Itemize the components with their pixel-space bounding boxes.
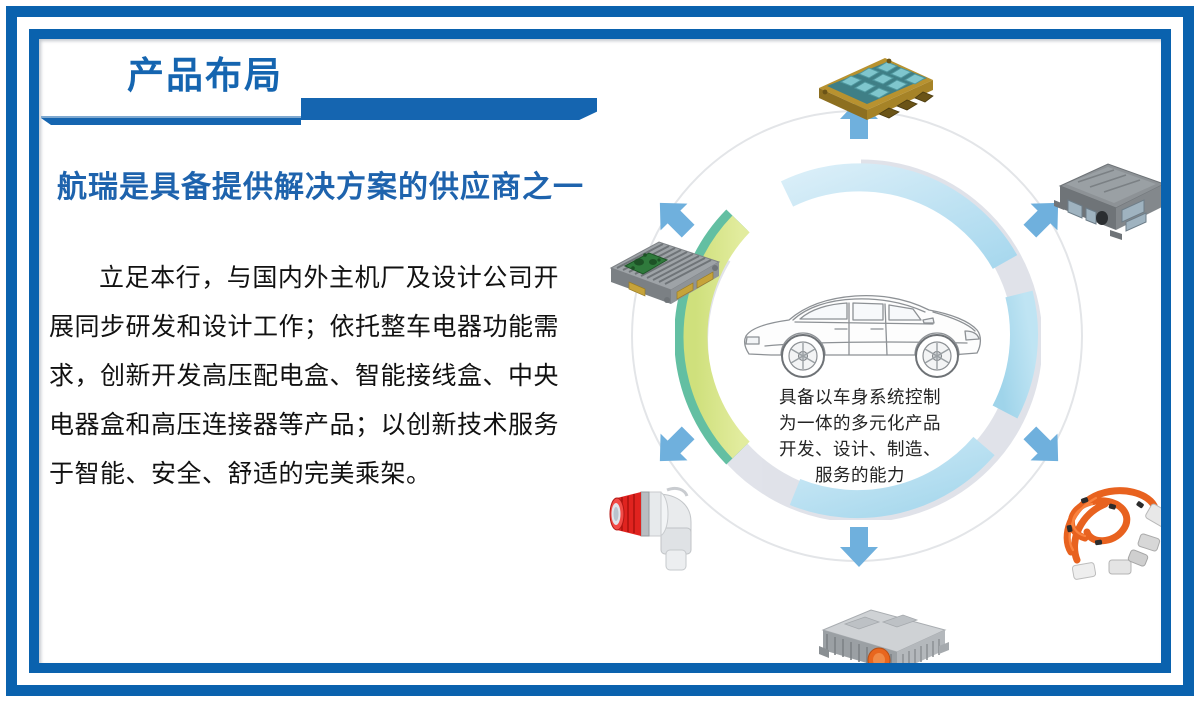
body-paragraph: 立足本行，与国内外主机厂及设计公司开展同步研发和设计工作；依托整车电器功能需求，… <box>49 254 559 499</box>
title-underline <box>41 118 301 125</box>
slide-canvas: 产品布局 航瑞是具备提供解决方案的供应商之一 立足本行，与国内外主机厂及设计公司… <box>39 39 1161 663</box>
slide-root: 产品布局 航瑞是具备提供解决方案的供应商之一 立足本行，与国内外主机厂及设计公司… <box>0 0 1200 702</box>
arc-top-right <box>787 177 1005 262</box>
product-layout-diagram: 具备以车身系统控制 为一体的多元化产品 开发、设计、制造、 服务的能力 <box>559 54 1159 654</box>
relay-fuse-box-image <box>811 39 939 122</box>
center-caption: 具备以车身系统控制 为一体的多元化产品 开发、设计、制造、 服务的能力 <box>727 384 993 488</box>
metal-junction-box-image <box>1044 146 1161 250</box>
orange-hv-cable-harness-image <box>1051 474 1161 586</box>
title-banner-bar <box>301 98 597 120</box>
finned-control-module-image <box>599 218 731 318</box>
arc-right <box>1005 294 1024 412</box>
center-caption-line-2: 为一体的多元化产品 <box>727 410 993 436</box>
arrow-lower-right-icon <box>1021 424 1067 470</box>
subtitle: 航瑞是具备提供解决方案的供应商之一 <box>57 162 584 206</box>
arrow-down-icon <box>836 524 882 570</box>
center-caption-line-3: 开发、设计、制造、 <box>727 436 993 462</box>
red-hv-connector-image <box>601 470 719 574</box>
arrow-lower-left-icon <box>651 424 697 470</box>
sedan-car-illustration <box>737 276 985 386</box>
power-distribution-unit-image <box>799 604 959 663</box>
center-caption-line-1: 具备以车身系统控制 <box>727 384 993 410</box>
page-title: 产品布局 <box>127 53 283 99</box>
title-block: 产品布局 <box>39 55 619 125</box>
title-underline-highlight <box>41 116 301 118</box>
center-caption-line-4: 服务的能力 <box>727 462 993 488</box>
